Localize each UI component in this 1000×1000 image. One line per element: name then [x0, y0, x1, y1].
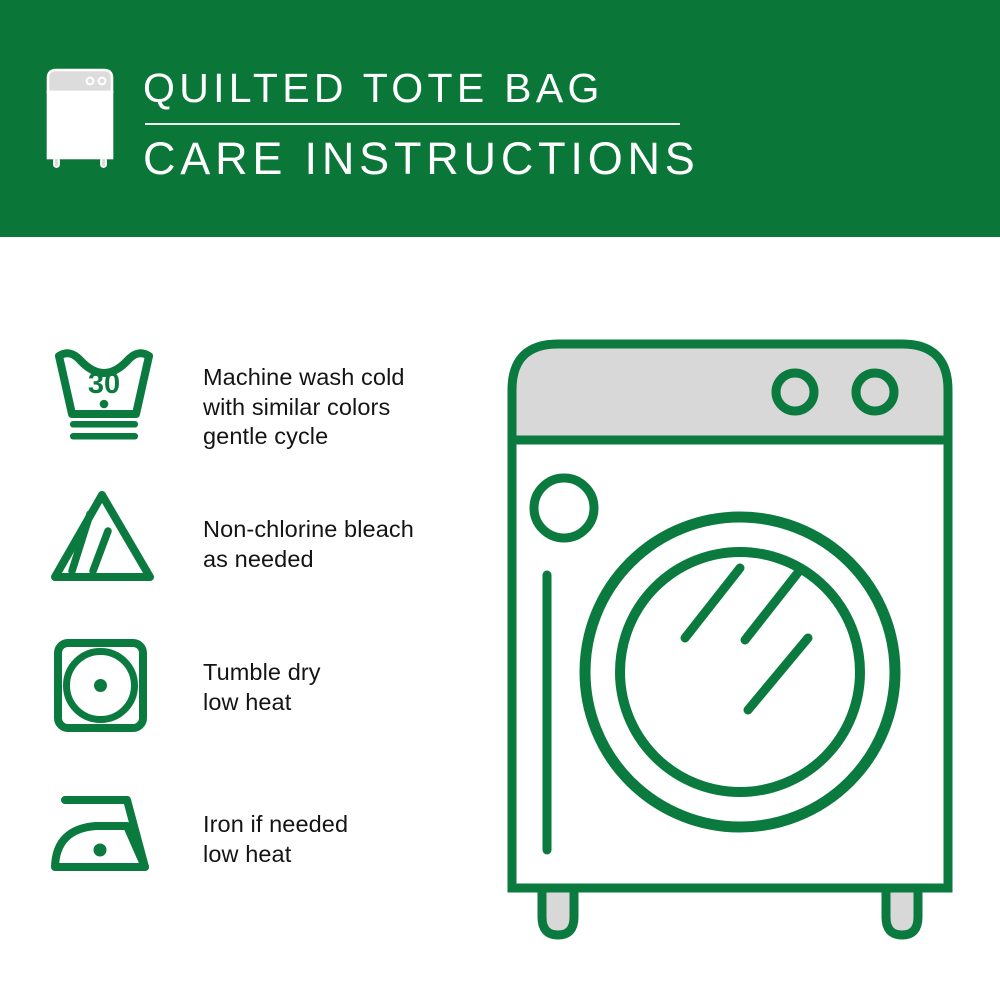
- care-text-bleach: Non-chlorine bleach as needed: [203, 487, 414, 574]
- care-row-iron: Iron if needed low heat: [50, 785, 480, 885]
- header-title-group: QUILTED TOTE BAG CARE INSTRUCTIONS: [143, 62, 843, 186]
- wash-tub-30-icon: 30: [50, 346, 158, 446]
- page-title-product: QUILTED TOTE BAG: [143, 62, 843, 114]
- washing-machine-icon: [44, 66, 116, 170]
- care-instruction-list: 30 Machine wash cold with similar colors…: [0, 237, 490, 1000]
- care-instructions-infographic: QUILTED TOTE BAG CARE INSTRUCTIONS 30: [0, 0, 1000, 1000]
- iron-icon: [50, 785, 158, 885]
- care-text-iron: Iron if needed low heat: [203, 785, 348, 869]
- care-row-bleach: Non-chlorine bleach as needed: [50, 487, 480, 587]
- care-text-machine-wash: Machine wash cold with similar colors ge…: [203, 346, 405, 452]
- care-row-machine-wash: 30 Machine wash cold with similar colors…: [50, 346, 480, 452]
- bleach-triangle-icon: [50, 487, 158, 587]
- washing-machine-illustration: [490, 320, 970, 950]
- care-row-tumble-dry: Tumble dry low heat: [50, 635, 480, 735]
- page-title-subject: CARE INSTRUCTIONS: [143, 132, 843, 186]
- header-banner: QUILTED TOTE BAG CARE INSTRUCTIONS: [0, 0, 1000, 237]
- title-divider: [145, 123, 680, 125]
- svg-text:30: 30: [88, 368, 120, 400]
- tumble-dry-icon: [50, 635, 158, 735]
- care-text-tumble-dry: Tumble dry low heat: [203, 635, 321, 717]
